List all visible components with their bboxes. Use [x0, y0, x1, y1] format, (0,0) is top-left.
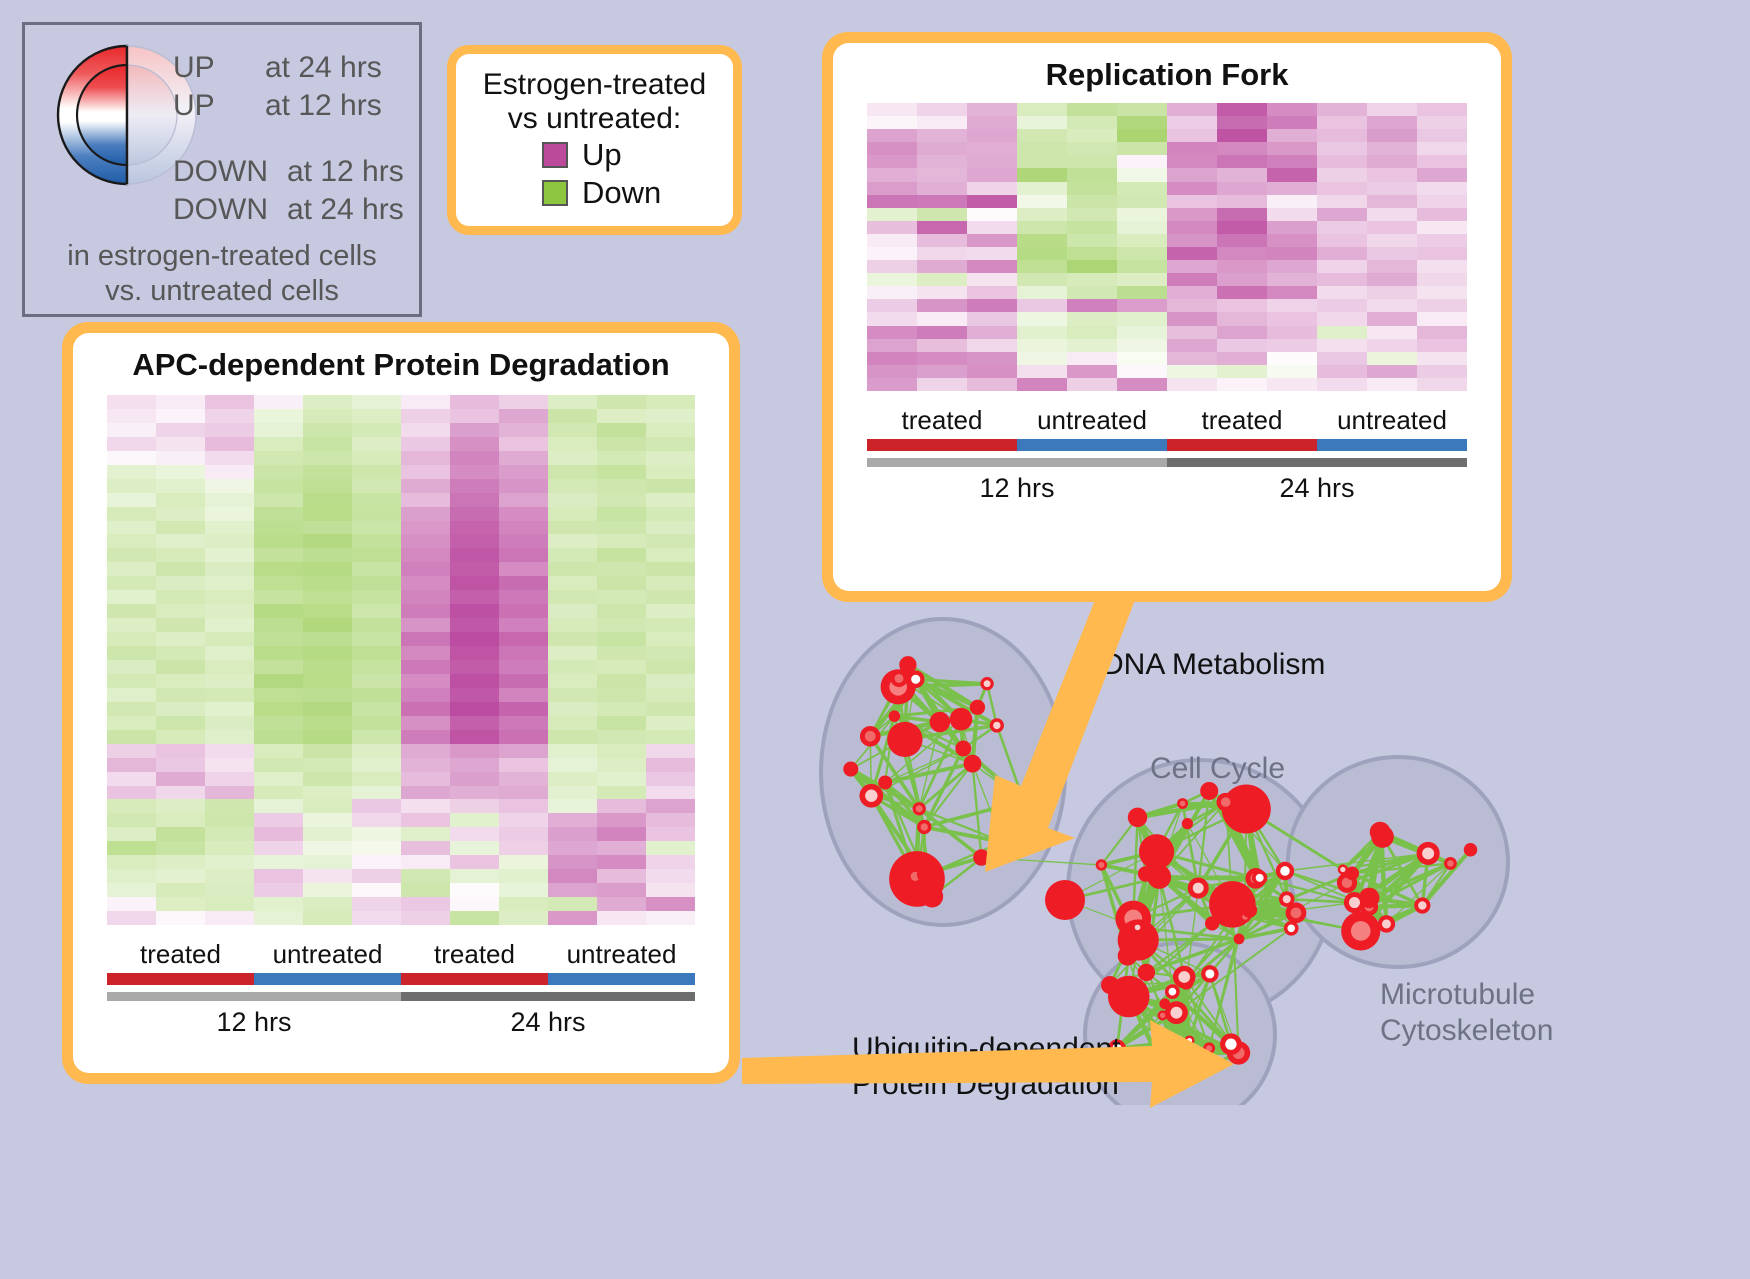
heatmap-cell	[646, 604, 695, 618]
heatmap-cell	[917, 273, 967, 286]
heatmap-cell	[107, 618, 156, 632]
legend-item-up: Up	[542, 137, 723, 173]
heatmap-cell	[499, 493, 548, 507]
heatmap-cell	[1317, 103, 1367, 116]
heatmap-cell	[107, 772, 156, 786]
heatmap-cell	[646, 479, 695, 493]
heatmap-cell	[352, 897, 401, 911]
heatmap-cell	[352, 855, 401, 869]
heatmap-cell	[1267, 234, 1317, 247]
heatmap-cell	[967, 352, 1017, 365]
heatmap-cell	[450, 465, 499, 479]
heatmap-cell	[499, 548, 548, 562]
heatmap-cell	[867, 352, 917, 365]
heatmap-cell	[107, 660, 156, 674]
heatmap-cell	[401, 702, 450, 716]
heatmap-cell	[401, 465, 450, 479]
heatmap-cell	[401, 646, 450, 660]
heatmap-cell	[1017, 142, 1067, 155]
heatmap-cell	[401, 548, 450, 562]
heatmap-cell	[254, 465, 303, 479]
network-node	[1132, 922, 1143, 933]
heatmap-cell	[107, 507, 156, 521]
heatmap-cell	[401, 660, 450, 674]
heatmap-cell	[597, 576, 646, 590]
heatmap-cell	[499, 841, 548, 855]
heatmap-cell	[1267, 326, 1317, 339]
heatmap-cell	[205, 395, 254, 409]
heatmap-cell	[1167, 260, 1217, 273]
heatmap-cell	[401, 688, 450, 702]
heatmap-cell	[597, 869, 646, 883]
heatmap-cell	[254, 423, 303, 437]
heatmap-cell	[107, 479, 156, 493]
heatmap-cell	[1017, 326, 1067, 339]
heatmap-cell	[1217, 260, 1267, 273]
time-color-segment	[107, 992, 401, 1001]
heatmap-cell	[1167, 116, 1217, 129]
heatmap-cell	[967, 129, 1017, 142]
heatmap-cell	[1317, 326, 1367, 339]
heatmap-cell	[254, 716, 303, 730]
heatmap-cell	[450, 521, 499, 535]
heatmap-cell	[156, 409, 205, 423]
heatmap-cell	[450, 702, 499, 716]
heatmap-cell	[499, 688, 548, 702]
heatmap-cell	[352, 604, 401, 618]
heatmap-cell	[254, 646, 303, 660]
heatmap-cell	[917, 260, 967, 273]
heatmap-cell	[646, 702, 695, 716]
heatmap-cell	[917, 299, 967, 312]
heatmap-cell	[450, 451, 499, 465]
heatmap-cell	[303, 409, 352, 423]
heatmap-cell	[450, 772, 499, 786]
heatmap-cell	[867, 208, 917, 221]
legend-label-down: Down	[582, 175, 661, 211]
heatmap-cell	[1317, 116, 1367, 129]
heatmap-cell	[450, 660, 499, 674]
heatmap-cell	[107, 827, 156, 841]
heatmap-cell	[107, 395, 156, 409]
heatmap-cell	[205, 869, 254, 883]
heatmap-cell	[1067, 116, 1117, 129]
heatmap-cell	[867, 103, 917, 116]
heatmap-cell	[254, 841, 303, 855]
heatmap-cell	[254, 437, 303, 451]
heatmap-cell	[303, 688, 352, 702]
legend-time-up-12: at 12 hrs	[265, 89, 382, 123]
heatmap-cell	[499, 451, 548, 465]
network-node	[921, 885, 943, 907]
heatmap-cell	[1067, 221, 1117, 234]
heatmap-cell	[156, 772, 205, 786]
heatmap-cell	[1167, 326, 1217, 339]
heatmap-cell	[254, 548, 303, 562]
heatmap-cell	[254, 758, 303, 772]
heatmap-cell	[499, 911, 548, 925]
heatmap-cell	[499, 897, 548, 911]
group-color-segment	[254, 973, 401, 985]
cluster-label-dna-metabolism: DNA Metabolism	[1102, 648, 1325, 682]
heatmap-cell	[1267, 365, 1317, 378]
network-node	[1173, 966, 1196, 989]
legend-word-down-24: DOWN	[173, 193, 268, 227]
group-label: treated	[867, 405, 1017, 436]
heatmap-cell	[401, 744, 450, 758]
panel-title-apc: APC-dependent Protein Degradation	[107, 347, 695, 383]
heatmap-cell	[1067, 286, 1117, 299]
heatmap-cell	[646, 548, 695, 562]
heatmap-cell	[1267, 260, 1317, 273]
heatmap-cell	[450, 869, 499, 883]
heatmap-cell	[254, 534, 303, 548]
heatmap-cell	[1317, 260, 1367, 273]
heatmap-cell	[867, 339, 917, 352]
heatmap-cell	[205, 813, 254, 827]
heatmap-cell	[499, 660, 548, 674]
heatmap-cell	[107, 674, 156, 688]
heatmap-cell	[1267, 312, 1317, 325]
heatmap-cell	[499, 646, 548, 660]
updown-title-line2: vs untreated:	[466, 102, 723, 136]
heatmap-cell	[303, 897, 352, 911]
heatmap-cell	[156, 632, 205, 646]
heatmap-cell	[450, 883, 499, 897]
heatmap-cell	[597, 786, 646, 800]
heatmap-cell	[1017, 247, 1067, 260]
heatmap-cell	[646, 897, 695, 911]
heatmap-cell	[499, 758, 548, 772]
heatmap-cell	[597, 562, 646, 576]
heatmap-cell	[646, 688, 695, 702]
heatmap-cell	[499, 590, 548, 604]
heatmap-cell	[1367, 247, 1417, 260]
heatmap-cell	[1167, 365, 1217, 378]
group-color-bar-apc	[107, 973, 695, 985]
heatmap-cell	[1167, 273, 1217, 286]
heatmap-cell	[401, 534, 450, 548]
heatmap-cell	[254, 632, 303, 646]
heatmap-cell	[352, 423, 401, 437]
heatmap-cell	[1367, 116, 1417, 129]
heatmap-cell	[450, 827, 499, 841]
heatmap-cell	[205, 618, 254, 632]
heatmap-cell	[1117, 339, 1167, 352]
heatmap-cell	[303, 548, 352, 562]
heatmap-cell	[303, 716, 352, 730]
heatmap-cell	[107, 493, 156, 507]
heatmap-cell	[1117, 155, 1167, 168]
heatmap-cell	[107, 688, 156, 702]
heatmap-cell	[1367, 221, 1417, 234]
network-node	[1159, 998, 1170, 1009]
heatmap-cell	[254, 772, 303, 786]
heatmap-cell	[107, 409, 156, 423]
heatmap-cell	[867, 312, 917, 325]
heatmap-cell	[352, 911, 401, 925]
heatmap-cell	[917, 142, 967, 155]
cluster-label-cell-cycle: Cell Cycle	[1150, 752, 1285, 786]
heatmap-cell	[548, 632, 597, 646]
heatmap-cell	[597, 688, 646, 702]
heatmap-cell	[499, 716, 548, 730]
heatmap-cell	[499, 534, 548, 548]
heatmap-cell	[450, 786, 499, 800]
heatmap-cell	[1217, 365, 1267, 378]
network-node	[980, 677, 993, 690]
heatmap-cell	[254, 883, 303, 897]
heatmap-cell	[646, 618, 695, 632]
heatmap-cell	[1317, 273, 1367, 286]
heatmap-cell	[1217, 326, 1267, 339]
heatmap-cell	[967, 378, 1017, 391]
heatmap-cell	[597, 479, 646, 493]
heatmap-cell	[867, 247, 917, 260]
heatmap-cell	[303, 758, 352, 772]
legend-word-up-24: UP	[173, 51, 215, 85]
up-swatch-icon	[542, 142, 568, 168]
heatmap-cell	[352, 730, 401, 744]
heatmap-cell	[1267, 286, 1317, 299]
heatmap-cell	[867, 286, 917, 299]
network-node	[1205, 916, 1219, 930]
heatmap-cell	[1017, 260, 1067, 273]
heatmap-cell	[156, 548, 205, 562]
heatmap-cell	[548, 479, 597, 493]
heatmap-cell	[967, 103, 1017, 116]
legend-time-down-24: at 24 hrs	[287, 193, 404, 227]
down-swatch-icon	[542, 180, 568, 206]
heatmap-cell	[205, 646, 254, 660]
heatmap-cell	[646, 562, 695, 576]
heatmap-cell	[867, 195, 917, 208]
heatmap-cell	[548, 534, 597, 548]
heatmap-cell	[450, 409, 499, 423]
heatmap-cell	[917, 103, 967, 116]
network-node	[1096, 859, 1107, 870]
heatmap-cell	[401, 799, 450, 813]
heatmap-cell	[597, 897, 646, 911]
group-color-segment	[1317, 439, 1467, 451]
heatmap-cell	[1067, 234, 1117, 247]
heatmap-cell	[548, 465, 597, 479]
heatmap-cell	[352, 409, 401, 423]
heatmap-cell	[1267, 208, 1317, 221]
heatmap-cell	[548, 674, 597, 688]
heatmap-cell	[597, 521, 646, 535]
heatmap-cell	[254, 507, 303, 521]
heatmap-cell	[646, 827, 695, 841]
network-node	[1101, 976, 1119, 994]
heatmap-cell	[254, 869, 303, 883]
heatmap-cell	[352, 451, 401, 465]
heatmap-cell	[107, 897, 156, 911]
heatmap-cell	[156, 674, 205, 688]
heatmap-cell	[254, 493, 303, 507]
heatmap-cell	[646, 395, 695, 409]
heatmap-cell	[254, 562, 303, 576]
heatmap-cell	[303, 869, 352, 883]
heatmap-cell	[548, 437, 597, 451]
heatmap-cell	[352, 827, 401, 841]
heatmap-cell	[401, 576, 450, 590]
heatmap-cell	[1267, 195, 1317, 208]
time-label: 24 hrs	[401, 1007, 695, 1038]
heatmap-cell	[967, 168, 1017, 181]
heatmap-cell	[401, 674, 450, 688]
heatmap-cell	[499, 702, 548, 716]
heatmap-cell	[450, 646, 499, 660]
heatmap-cell	[499, 465, 548, 479]
heatmap-cell	[1167, 247, 1217, 260]
heatmap-cell	[1217, 312, 1267, 325]
heatmap-cell	[450, 618, 499, 632]
heatmap-cell	[205, 548, 254, 562]
heatmap-cell	[917, 182, 967, 195]
heatmap-cell	[107, 576, 156, 590]
heatmap-cell	[1117, 182, 1167, 195]
network-node	[950, 708, 973, 731]
heatmap-cell	[205, 423, 254, 437]
heatmap-cell	[1117, 129, 1167, 142]
heatmap-cell	[1417, 378, 1467, 391]
heatmap-cell	[303, 479, 352, 493]
heatmap-cell	[1267, 299, 1317, 312]
heatmap-cell	[1317, 129, 1367, 142]
heatmap-cell	[1017, 312, 1067, 325]
heatmap-cell	[401, 632, 450, 646]
network-node	[1444, 857, 1457, 870]
heatmap-cell	[967, 116, 1017, 129]
heatmap-cell	[156, 688, 205, 702]
heatmap-cell	[254, 674, 303, 688]
heatmap-cell	[867, 260, 917, 273]
heatmap-cell	[499, 604, 548, 618]
heatmap-cell	[1117, 142, 1167, 155]
heatmap-cell	[303, 674, 352, 688]
time-color-segment	[1167, 458, 1467, 467]
heatmap-cell	[967, 326, 1017, 339]
heatmap-cell	[1317, 195, 1367, 208]
heatmap-cell	[205, 534, 254, 548]
heatmap-cell	[1217, 378, 1267, 391]
heatmap-cell	[450, 437, 499, 451]
heatmap-cell	[499, 437, 548, 451]
heatmap-cell	[1067, 273, 1117, 286]
heatmap-cell	[401, 618, 450, 632]
heatmap-cell	[1317, 168, 1367, 181]
heatmap-cell	[548, 786, 597, 800]
heatmap-cell	[156, 521, 205, 535]
group-label: untreated	[1017, 405, 1167, 436]
group-label: untreated	[548, 939, 695, 970]
heatmap-cell	[548, 604, 597, 618]
heatmap-cell	[646, 799, 695, 813]
heatmap-cell	[205, 911, 254, 925]
heatmap-cell	[1367, 339, 1417, 352]
legend-time-down-12: at 12 hrs	[287, 155, 404, 189]
heatmap-cell	[254, 688, 303, 702]
network-node	[1139, 834, 1174, 869]
network-node	[890, 670, 907, 687]
heatmap-cell	[646, 521, 695, 535]
heatmap-cell	[1117, 326, 1167, 339]
heatmap-cell	[401, 521, 450, 535]
heatmap-cell	[597, 395, 646, 409]
pathway-network-graph: DNA Metabolism Cell Cycle Microtubule Cy…	[780, 600, 1570, 1105]
group-color-bar-replication-fork	[867, 439, 1467, 451]
heatmap-cell	[597, 758, 646, 772]
heatmap-cell	[597, 660, 646, 674]
heatmap-cell	[1317, 286, 1367, 299]
heatmap-cell	[1017, 103, 1067, 116]
heatmap-cell	[1417, 260, 1467, 273]
heatmap-cell	[303, 730, 352, 744]
heatmap-cell	[352, 688, 401, 702]
heatmap-cell	[499, 521, 548, 535]
heatmap-cell	[1067, 312, 1117, 325]
network-node	[1138, 964, 1155, 981]
heatmap-cell	[156, 660, 205, 674]
heatmap-cell	[1217, 286, 1267, 299]
heatmap-cell	[1267, 116, 1317, 129]
network-node	[843, 761, 858, 776]
heatmap-cell	[352, 576, 401, 590]
heatmap-cell	[867, 116, 917, 129]
heatmap-cell	[1067, 352, 1117, 365]
heatmap-cell	[1067, 142, 1117, 155]
network-node	[1341, 911, 1380, 950]
heatmap-cell	[401, 493, 450, 507]
heatmap-cell	[450, 507, 499, 521]
network-node	[973, 849, 990, 866]
network-node	[1378, 915, 1395, 932]
heatmap-cell	[1067, 326, 1117, 339]
group-label: treated	[401, 939, 548, 970]
heatmap-cell	[352, 869, 401, 883]
heatmap-cell	[156, 507, 205, 521]
heatmap-cell	[303, 562, 352, 576]
heatmap-cell	[1017, 234, 1067, 247]
heatmap-cell	[1267, 155, 1317, 168]
heatmap-cell	[499, 409, 548, 423]
heatmap-cell	[1217, 299, 1267, 312]
heatmap-cell	[254, 451, 303, 465]
heatmap-cell	[303, 465, 352, 479]
time-labels-apc: 12 hrs24 hrs	[107, 1007, 695, 1038]
heatmap-cell	[1167, 142, 1217, 155]
heatmap-cell	[1217, 247, 1267, 260]
heatmap-cell	[352, 758, 401, 772]
heatmap-cell	[401, 897, 450, 911]
time-label: 24 hrs	[1167, 473, 1467, 504]
heatmap-cell	[548, 869, 597, 883]
heatmap-cell	[548, 548, 597, 562]
heatmap-cell	[646, 883, 695, 897]
network-node	[859, 784, 883, 808]
group-label: treated	[107, 939, 254, 970]
heatmap-cell	[499, 632, 548, 646]
network-node	[917, 866, 933, 882]
heatmap-cell	[401, 855, 450, 869]
heatmap-cell	[499, 799, 548, 813]
network-node	[1242, 902, 1257, 917]
heatmap-cell	[1017, 365, 1067, 378]
heatmap-cell	[1417, 273, 1467, 286]
heatmap-cell	[107, 716, 156, 730]
heatmap-cell	[1417, 299, 1467, 312]
